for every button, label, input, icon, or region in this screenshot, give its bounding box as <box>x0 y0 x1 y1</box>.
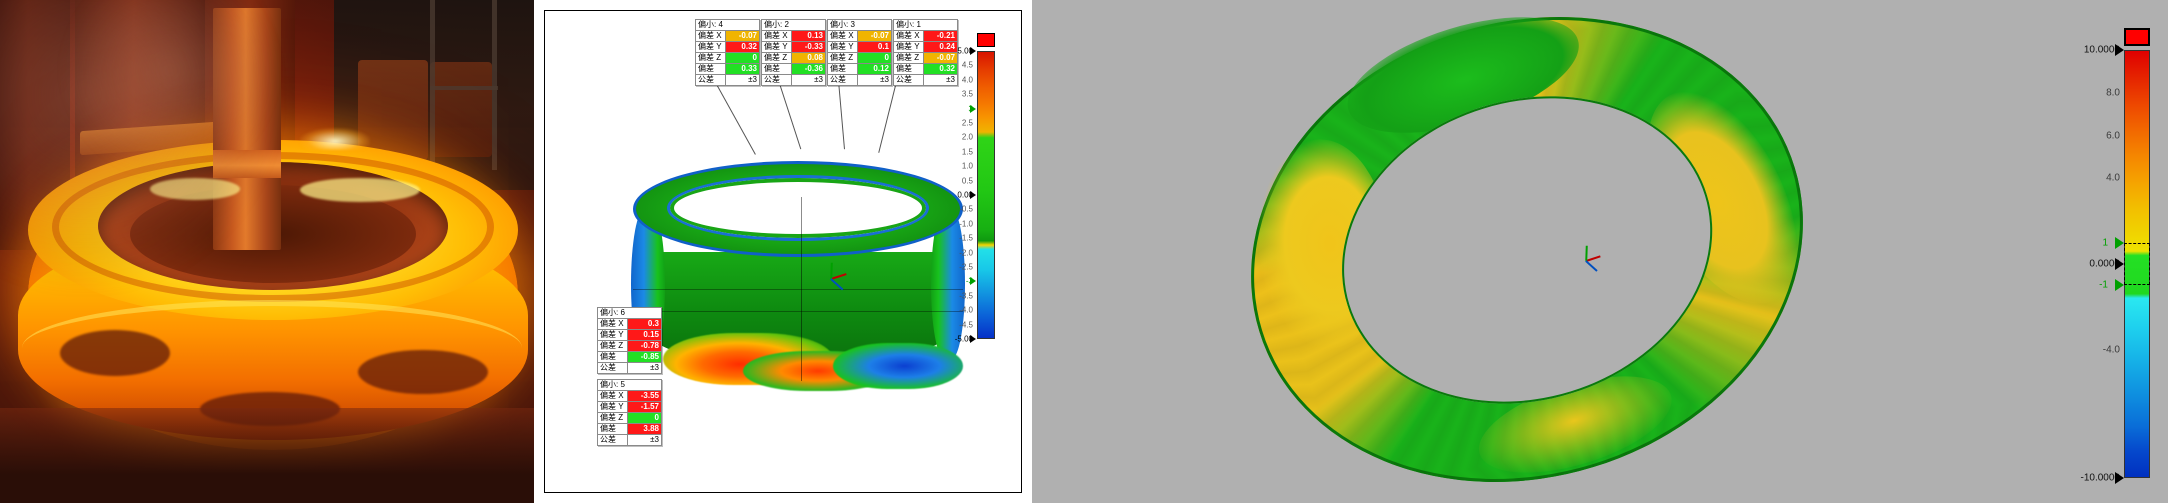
deviation-row: 偏差 Z0 <box>598 413 662 424</box>
deviation-table-title-cell: 偏小: 1 <box>894 20 958 31</box>
deviation-table-5[interactable]: 偏小: 5偏差 X-3.55偏差 Y-1.57偏差 Z0偏差3.88公差±3 <box>597 379 662 446</box>
fea-legend-tick-label: -4.0 <box>2103 344 2120 355</box>
deviation-row: 偏差 X-0.21 <box>894 31 958 42</box>
deviation-row: 偏差 X0.3 <box>598 319 662 330</box>
deviation-row-value: 0 <box>858 53 892 64</box>
deviation-row-label: 偏差 Z <box>598 341 628 352</box>
cad-viewport-frame: 偏小: 4偏差 X-0.07偏差 Y0.32偏差 Z0偏差0.33公差±3偏小:… <box>544 10 1022 493</box>
deviation-row: 偏差 Z0.08 <box>762 53 826 64</box>
deviation-row-value: ±3 <box>924 75 958 86</box>
cad-section-line-vertical <box>801 197 802 381</box>
deviation-row-label: 偏差 Y <box>696 42 726 53</box>
deviation-row-label: 偏差 <box>598 424 628 435</box>
cad-stage[interactable]: 偏小: 4偏差 X-0.07偏差 Y0.32偏差 Z0偏差0.33公差±3偏小:… <box>545 11 1021 492</box>
deviation-row-label: 偏差 Z <box>762 53 792 64</box>
fea-ring-model[interactable] <box>1193 0 1862 503</box>
fea-color-legend: 10.00008.06.04.010.0000-1-4.0-10.0000 <box>2124 28 2150 478</box>
cad-legend-tick-label: 2.5 <box>962 119 973 128</box>
deviation-row: 偏差 Y0.15 <box>598 330 662 341</box>
deviation-row-value: 0.32 <box>726 42 760 53</box>
deviation-row-value: -0.78 <box>628 341 662 352</box>
deviation-row-label: 偏差 <box>598 352 628 363</box>
cad-legend-tick-label: -4.0 <box>959 306 973 315</box>
cad-legend-tick-label: -3.5 <box>959 291 973 300</box>
deviation-table-title-cell: 偏小: 2 <box>762 20 826 31</box>
deviation-row: 公差±3 <box>598 363 662 374</box>
deviation-row: 偏差 Y0.32 <box>696 42 760 53</box>
fea-legend-tick-arrow <box>2115 472 2124 484</box>
photo-scale-patch-a <box>60 330 170 376</box>
deviation-row: 偏差-0.85 <box>598 352 662 363</box>
deviation-row-value: ±3 <box>726 75 760 86</box>
photo-steel-frame-cross <box>430 86 498 90</box>
deviation-row-label: 偏差 Y <box>894 42 924 53</box>
deviation-table-4[interactable]: 偏小: 4偏差 X-0.07偏差 Y0.32偏差 Z0偏差0.33公差±3 <box>695 19 760 86</box>
deviation-row: 偏差3.88 <box>598 424 662 435</box>
deviation-table-6[interactable]: 偏小: 6偏差 X0.3偏差 Y0.15偏差 Z-0.78偏差-0.85公差±3 <box>597 307 662 374</box>
deviation-row-value: 0 <box>726 53 760 64</box>
deviation-row-value: -0.33 <box>792 42 826 53</box>
cad-legend-tick-label: 4.5 <box>962 61 973 70</box>
deviation-row-value: -0.85 <box>628 352 662 363</box>
cad-legend-tick-label: -1.5 <box>959 234 973 243</box>
photo-steel-frame-b <box>492 0 497 170</box>
fea-legend-tick-label: 6.0 <box>2106 130 2120 141</box>
deviation-row: 公差±3 <box>696 75 760 86</box>
deviation-table-title: 偏小: 6 <box>598 308 662 319</box>
deviation-table-title: 偏小: 3 <box>828 20 892 31</box>
deviation-row-value: -0.07 <box>726 31 760 42</box>
deviation-row-value: 0.33 <box>726 64 760 75</box>
deviation-row: 偏差0.33 <box>696 64 760 75</box>
deviation-row: 偏差0.32 <box>894 64 958 75</box>
photo-smoke-plume-b <box>60 0 280 180</box>
deviation-table-title: 偏小: 2 <box>762 20 826 31</box>
deviation-table-title-cell: 偏小: 5 <box>598 380 662 391</box>
cad-axis-triad <box>821 256 861 296</box>
deviation-table-2[interactable]: 偏小: 2偏差 X0.13偏差 Y-0.33偏差 Z0.08偏差-0.36公差±… <box>761 19 826 86</box>
deviation-row-label: 公差 <box>894 75 924 86</box>
cad-legend-tick-label: -1.0 <box>959 219 973 228</box>
fea-legend-tick-label: 4.0 <box>2106 173 2120 184</box>
cad-legend-tick-arrow <box>970 335 976 343</box>
cad-legend-tick-label: 3.5 <box>962 90 973 99</box>
deviation-row-value: 0.13 <box>792 31 826 42</box>
deviation-table-title-cell: 偏小: 3 <box>828 20 892 31</box>
fea-axis-triad <box>1578 240 1618 280</box>
cad-deviation-coldspot <box>833 343 963 389</box>
deviation-row: 偏差 Z0 <box>828 53 892 64</box>
deviation-row-value: -3.55 <box>628 391 662 402</box>
cad-legend-gradient-bar <box>977 51 995 339</box>
deviation-row-value: 0.1 <box>858 42 892 53</box>
deviation-row-label: 偏差 <box>696 64 726 75</box>
cad-legend-tick-label: -4.5 <box>959 320 973 329</box>
deviation-table-title-cell: 偏小: 6 <box>598 308 662 319</box>
deviation-row-label: 偏差 Z <box>828 53 858 64</box>
photo-bright-patch-b <box>300 178 420 202</box>
deviation-row: 偏差 Y0.24 <box>894 42 958 53</box>
deviation-table-title: 偏小: 1 <box>894 20 958 31</box>
deviation-row-value: ±3 <box>628 435 662 446</box>
deviation-row: 公差±3 <box>894 75 958 86</box>
deviation-row: 公差±3 <box>762 75 826 86</box>
deviation-row-value: ±3 <box>628 363 662 374</box>
photo-sparks <box>300 128 370 150</box>
deviation-row: 公差±3 <box>828 75 892 86</box>
cad-ring-bore <box>667 175 929 241</box>
fea-legend-tick-label: 1 <box>2102 237 2108 248</box>
deviation-row-label: 偏差 Y <box>762 42 792 53</box>
cad-legend-tick-label: 1.0 <box>962 162 973 171</box>
deviation-row: 偏差 Y-1.57 <box>598 402 662 413</box>
deviation-row-value: -0.36 <box>792 64 826 75</box>
deviation-table-title: 偏小: 5 <box>598 380 662 391</box>
deviation-row: 偏差 X-3.55 <box>598 391 662 402</box>
deviation-row-value: -0.07 <box>858 31 892 42</box>
deviation-row-value: 0.32 <box>924 64 958 75</box>
deviation-row: 偏差 Y-0.33 <box>762 42 826 53</box>
deviation-row-label: 偏差 X <box>828 31 858 42</box>
deviation-row: 公差±3 <box>598 435 662 446</box>
deviation-row-label: 偏差 X <box>598 391 628 402</box>
deviation-row: 偏差-0.36 <box>762 64 826 75</box>
deviation-row-value: -0.07 <box>924 53 958 64</box>
deviation-row-value: -1.57 <box>628 402 662 413</box>
photo-machine-body-b <box>430 62 492 157</box>
cad-legend-tick-label: 0.5 <box>962 176 973 185</box>
deviation-row-label: 公差 <box>828 75 858 86</box>
fea-legend-tick-arrow <box>2115 258 2124 270</box>
photo-scale-patch-c <box>358 350 488 394</box>
deviation-row-label: 偏差 Y <box>598 330 628 341</box>
cad-legend-tick-arrow <box>970 277 976 285</box>
deviation-row-label: 偏差 <box>828 64 858 75</box>
axis-z-icon <box>830 278 843 290</box>
deviation-row-value: ±3 <box>792 75 826 86</box>
fea-legend-tick-arrow <box>2115 279 2124 291</box>
fea-legend-tick-label: 8.0 <box>2106 87 2120 98</box>
cad-deviation-view[interactable]: 偏小: 4偏差 X-0.07偏差 Y0.32偏差 Z0偏差0.33公差±3偏小:… <box>534 0 1032 503</box>
cad-legend-tick-arrow <box>970 191 976 199</box>
deviation-row-label: 偏差 Y <box>828 42 858 53</box>
deviation-row: 偏差 Z-0.07 <box>894 53 958 64</box>
cad-section-line-b <box>633 311 963 312</box>
cad-legend-tick-label: 4.0 <box>962 75 973 84</box>
fea-legend-tick-label: -1 <box>2099 280 2108 291</box>
deviation-row-label: 偏差 Z <box>894 53 924 64</box>
cad-legend-tick-arrow <box>970 47 976 55</box>
cad-ring-model[interactable] <box>633 161 963 391</box>
fea-legend-tolerance-band <box>2124 243 2150 286</box>
cad-legend-over-range-chip <box>977 33 995 47</box>
axis-z-icon <box>1585 260 1597 271</box>
deviation-row-label: 偏差 X <box>762 31 792 42</box>
cad-color-legend: 5.004.54.03.532.52.01.51.00.50.00-0.5-1.… <box>977 33 995 343</box>
deviation-row-value: 0.08 <box>792 53 826 64</box>
deviation-row-label: 偏差 <box>894 64 924 75</box>
deviation-row-value: -0.21 <box>924 31 958 42</box>
deviation-row: 偏差0.12 <box>828 64 892 75</box>
deviation-row: 偏差 X0.13 <box>762 31 826 42</box>
photo-floor <box>0 408 534 503</box>
deviation-row: 偏差 Z-0.78 <box>598 341 662 352</box>
cad-legend-tick-label: -2.5 <box>959 263 973 272</box>
deviation-row-label: 公差 <box>762 75 792 86</box>
deviation-table-1[interactable]: 偏小: 1偏差 X-0.21偏差 Y0.24偏差 Z-0.07偏差0.32公差±… <box>893 19 958 86</box>
cad-legend-tick-label: 2.0 <box>962 133 973 142</box>
deviation-row-label: 偏差 <box>762 64 792 75</box>
deviation-row-value: 3.88 <box>628 424 662 435</box>
deviation-row-value: 0.24 <box>924 42 958 53</box>
deviation-row: 偏差 Y0.1 <box>828 42 892 53</box>
deviation-row-label: 偏差 X <box>598 319 628 330</box>
screenshot-root: 偏小: 4偏差 X-0.07偏差 Y0.32偏差 Z0偏差0.33公差±3偏小:… <box>0 0 2168 503</box>
deviation-row-label: 偏差 Z <box>598 413 628 424</box>
deviation-row-value: 0.3 <box>628 319 662 330</box>
cad-section-line-a <box>633 289 963 290</box>
hot-ring-forging-photo <box>0 0 534 503</box>
deviation-table-title-cell: 偏小: 4 <box>696 20 760 31</box>
deviation-row-value: 0.12 <box>858 64 892 75</box>
deviation-row: 偏差 X-0.07 <box>696 31 760 42</box>
cad-legend-tick-label: 1.5 <box>962 147 973 156</box>
fea-legend-tick-arrow <box>2115 237 2124 249</box>
deviation-row-label: 偏差 Z <box>696 53 726 64</box>
deviation-row-label: 偏差 Y <box>598 402 628 413</box>
axis-x-icon <box>831 273 847 279</box>
deviation-row-label: 公差 <box>696 75 726 86</box>
fea-legend-over-range-chip <box>2124 28 2150 46</box>
deviation-row: 偏差 X-0.07 <box>828 31 892 42</box>
cad-legend-tick-label: -0.5 <box>959 205 973 214</box>
deviation-row-label: 偏差 X <box>894 31 924 42</box>
deviation-row-label: 公差 <box>598 435 628 446</box>
deviation-row-label: 公差 <box>598 363 628 374</box>
fea-legend-tick-arrow <box>2115 44 2124 56</box>
cad-legend-tick-label: -2.0 <box>959 248 973 257</box>
deviation-row-label: 偏差 X <box>696 31 726 42</box>
deviation-row: 偏差 Z0 <box>696 53 760 64</box>
deviation-table-3[interactable]: 偏小: 3偏差 X-0.07偏差 Y0.1偏差 Z0偏差0.12公差±3 <box>827 19 892 86</box>
deviation-row-value: 0 <box>628 413 662 424</box>
deviation-table-title: 偏小: 4 <box>696 20 760 31</box>
fea-contour-view[interactable]: 10.00008.06.04.010.0000-1-4.0-10.0000 <box>1032 0 2168 503</box>
deviation-row-value: 0.15 <box>628 330 662 341</box>
cad-legend-tick-arrow <box>970 105 976 113</box>
deviation-row-value: ±3 <box>858 75 892 86</box>
